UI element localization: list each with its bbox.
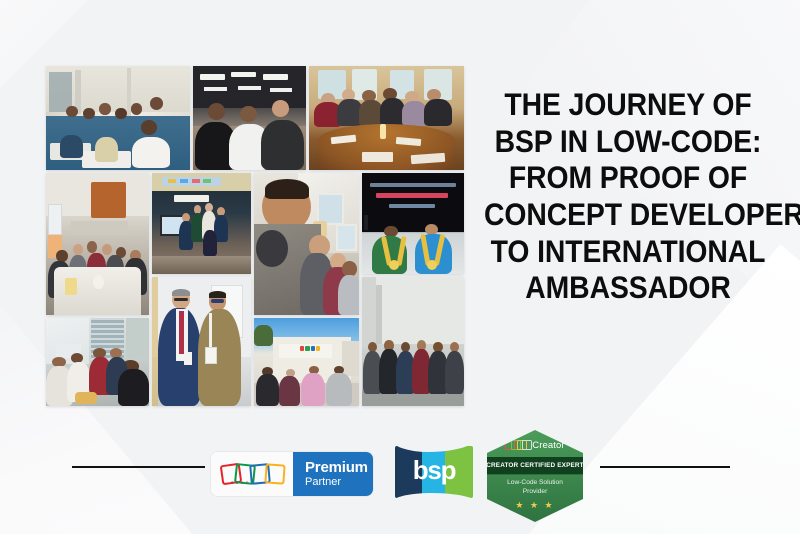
poster-canvas: THE JOURNEY OF BSP IN LOW-CODE: FROM PRO… [0, 0, 800, 534]
bsp-logo[interactable]: bsp [395, 446, 473, 498]
headline-line-5: TO INTERNATIONAL [484, 233, 772, 270]
photo-collage [46, 66, 464, 406]
collage-photo-team-lounge [46, 66, 190, 170]
creator-ribbon: CREATOR CERTIFIED EXPERT [482, 457, 588, 474]
collage-photo-outside-building [254, 318, 359, 406]
collage-photo-hackathon-screen [362, 173, 464, 274]
page-title: THE JOURNEY OF BSP IN LOW-CODE: FROM PRO… [484, 86, 772, 306]
creator-star-rating: ★ ★ ★ [487, 500, 583, 511]
creator-product-row: Creator [487, 440, 583, 451]
zoho-creator-mark-icon [505, 440, 529, 451]
headline-line-4: CONCEPT DEVELOPER [484, 196, 772, 233]
bsp-wordmark: bsp [395, 446, 473, 498]
collage-photo-group-indoor [362, 277, 464, 406]
collage-photo-suit-and-badge [152, 277, 251, 406]
creator-subtitle-line-1: Low-Code Solution [487, 479, 583, 488]
creator-badge-content: Creator CREATOR CERTIFIED EXPERT Low-Cod… [487, 430, 583, 522]
partner-label: Partner [305, 476, 373, 489]
headline-line-2: BSP IN LOW-CODE: [484, 123, 772, 160]
zoho-logo: ZOHO [211, 452, 293, 496]
collage-photo-dinner-table [309, 66, 464, 170]
zoho-square-yellow-icon [264, 463, 285, 484]
zoho-mark-icon: ZOHO [221, 461, 283, 487]
premium-partner-tier: Premium Partner [293, 452, 373, 496]
collage-photo-selfie-group [254, 173, 359, 315]
creator-subtitle: Low-Code Solution Provider [487, 479, 583, 497]
headline-line-1: THE JOURNEY OF [484, 86, 772, 123]
headline-line-6: AMBASSADOR [484, 269, 772, 306]
premium-label: Premium [305, 460, 373, 475]
collage-photo-office-casual [46, 318, 149, 406]
zoho-premium-partner-badge[interactable]: ZOHO Premium Partner [211, 452, 373, 496]
creator-product-label: Creator [532, 440, 564, 451]
logo-strip: ZOHO Premium Partner bsp [0, 430, 800, 522]
collage-photo-three-men-ceiling [193, 66, 306, 170]
creator-certified-expert-badge[interactable]: Creator CREATOR CERTIFIED EXPERT Low-Cod… [487, 430, 583, 522]
zoho-wordmark: ZOHO [231, 481, 251, 485]
creator-square-grey-icon [522, 440, 532, 450]
collage-photo-long-table-dinner [46, 173, 149, 315]
creator-ribbon-label: CREATOR CERTIFIED EXPERT [486, 462, 583, 469]
creator-subtitle-line-2: Provider [487, 488, 583, 497]
collage-photo-expo-booth [152, 173, 251, 274]
headline-line-3: FROM PROOF OF [484, 159, 772, 196]
